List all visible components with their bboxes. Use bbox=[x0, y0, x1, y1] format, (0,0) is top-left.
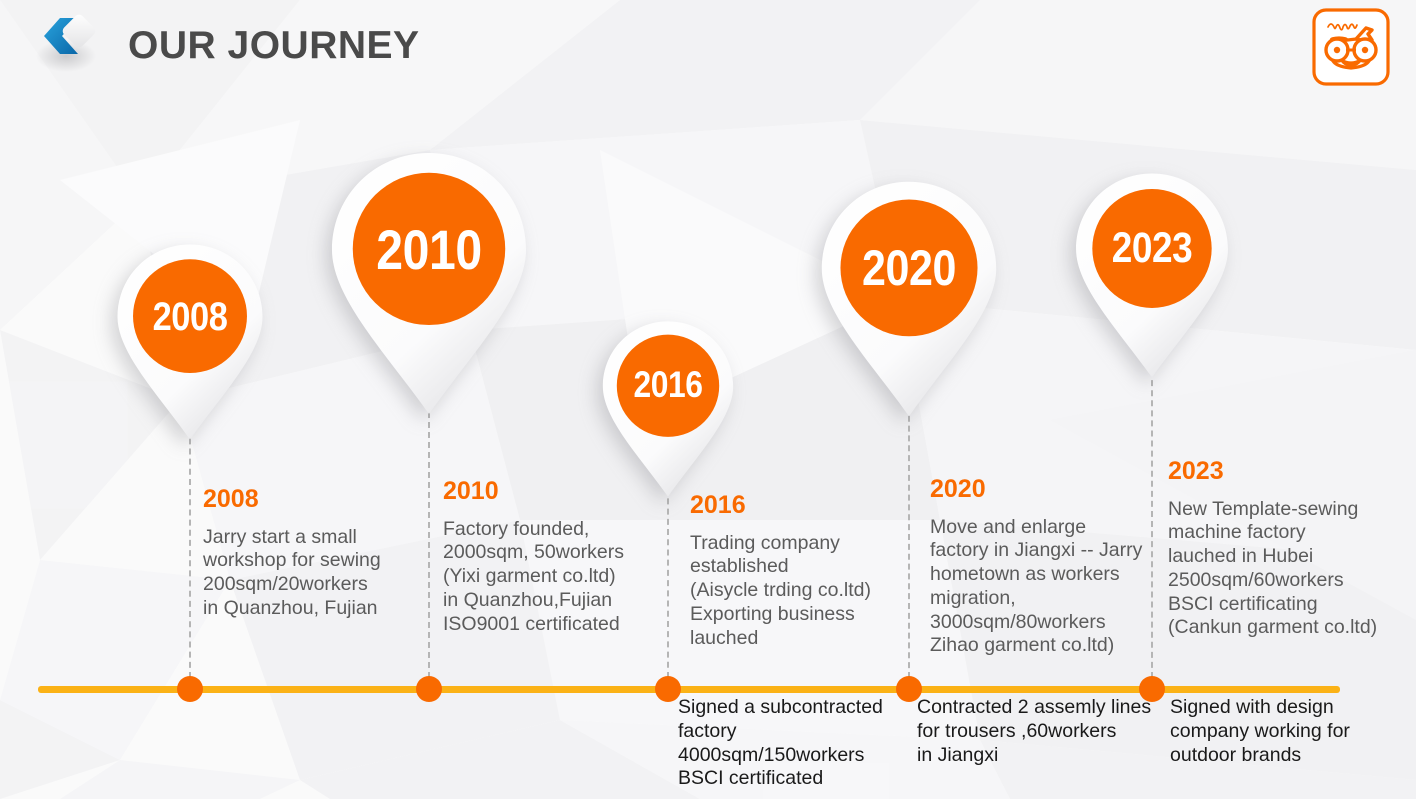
pin-year-label-2020: 2020 bbox=[832, 239, 985, 297]
milestone-description-2016: Trading company established (Aisycle trd… bbox=[690, 532, 905, 651]
diamond-chevron-logo-icon bbox=[36, 12, 110, 78]
milestone-description-2020: Move and enlarge factory in Jiangxi -- J… bbox=[930, 516, 1165, 659]
map-pin-2016[interactable]: 2016 bbox=[602, 320, 735, 498]
milestone-subnote-2023: Signed with design company working for o… bbox=[1170, 696, 1405, 767]
milestone-text-above-2016: 2016Trading company established (Aisycle… bbox=[690, 492, 905, 650]
milestone-description-2008: Jarry start a small workshop for sewing … bbox=[203, 526, 438, 621]
pin-year-label-2008: 2008 bbox=[126, 295, 253, 340]
milestone-year-heading-2023: 2023 bbox=[1168, 458, 1398, 486]
pin-year-label-2016: 2016 bbox=[611, 364, 725, 406]
axis-dot-2008[interactable] bbox=[177, 676, 203, 702]
connector-line-2020 bbox=[908, 396, 910, 678]
milestone-subnote-2016: Signed a subcontracted factory 4000sqm/1… bbox=[678, 696, 918, 791]
milestone-year-heading-2020: 2020 bbox=[930, 476, 1165, 504]
milestone-text-below-2016: Signed a subcontracted factory 4000sqm/1… bbox=[678, 696, 918, 791]
milestone-year-heading-2008: 2008 bbox=[203, 486, 438, 514]
page-title: OUR JOURNEY bbox=[128, 26, 420, 65]
pin-year-label-2023: 2023 bbox=[1085, 224, 1218, 273]
milestone-text-below-2023: Signed with design company working for o… bbox=[1170, 696, 1405, 767]
map-pin-2023[interactable]: 2023 bbox=[1075, 172, 1230, 379]
map-pin-2020[interactable]: 2020 bbox=[820, 180, 998, 418]
milestone-text-above-2010: 2010Factory founded, 2000sqm, 50workers … bbox=[443, 478, 683, 636]
milestone-text-below-2020: Contracted 2 assemly lines for trousers … bbox=[917, 696, 1162, 767]
milestone-text-above-2023: 2023New Template-sewing machine factory … bbox=[1168, 458, 1398, 640]
connector-line-2008 bbox=[189, 418, 191, 678]
milestone-year-heading-2010: 2010 bbox=[443, 478, 683, 506]
pin-year-label-2010: 2010 bbox=[344, 217, 514, 282]
aisycle-bicycle-face-logo-icon bbox=[1310, 6, 1392, 88]
milestone-description-2010: Factory founded, 2000sqm, 50workers (Yix… bbox=[443, 518, 683, 637]
slide-canvas: OUR JOURNEY 20082010201620202023 2008 bbox=[0, 0, 1416, 799]
milestone-text-above-2008: 2008Jarry start a small workshop for sew… bbox=[203, 486, 438, 621]
axis-dot-2010[interactable] bbox=[416, 676, 442, 702]
milestone-description-2023: New Template-sewing machine factory lauc… bbox=[1168, 498, 1398, 641]
map-pin-2008[interactable]: 2008 bbox=[116, 243, 264, 441]
page-header: OUR JOURNEY bbox=[36, 12, 420, 78]
milestone-text-above-2020: 2020Move and enlarge factory in Jiangxi … bbox=[930, 476, 1165, 658]
map-pin-2010[interactable]: 2010 bbox=[330, 151, 528, 416]
milestone-year-heading-2016: 2016 bbox=[690, 492, 905, 520]
milestone-subnote-2020: Contracted 2 assemly lines for trousers … bbox=[917, 696, 1162, 767]
